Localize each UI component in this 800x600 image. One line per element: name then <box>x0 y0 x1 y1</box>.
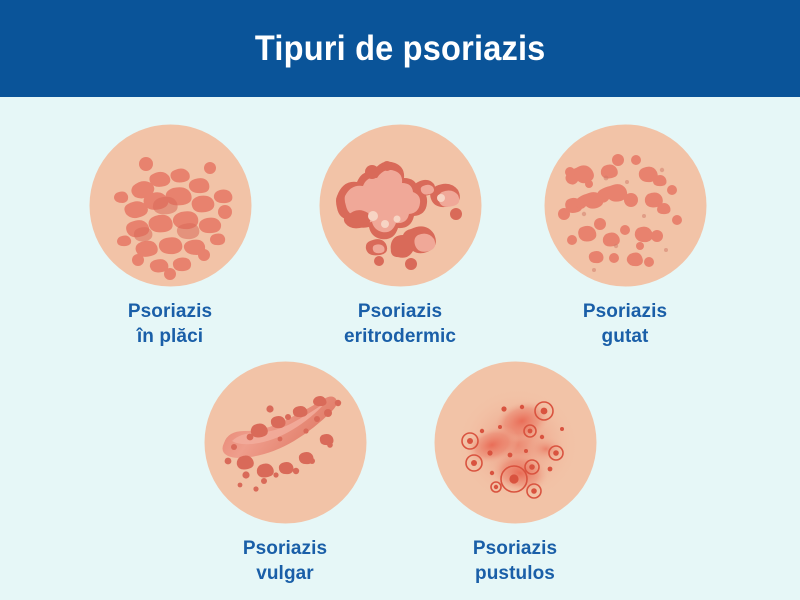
header-banner: Tipuri de psoriazis <box>0 0 800 97</box>
erythrodermic-psoriasis-icon <box>319 124 482 287</box>
type-card-guttate[interactable]: Psoriazis gutat <box>515 124 735 350</box>
psoriasis-vulgaris-icon <box>204 361 367 524</box>
type-card-erythrodermic[interactable]: Psoriazis eritrodermic <box>290 124 510 350</box>
type-label-vulgaris: Psoriazis vulgar <box>175 536 395 587</box>
type-card-plaque[interactable]: Psoriazis în plăci <box>60 124 280 350</box>
guttate-psoriasis-icon <box>544 124 707 287</box>
type-label-plaque: Psoriazis în plăci <box>60 299 280 350</box>
illustration-plaque <box>89 124 252 287</box>
page-title: Tipuri de psoriazis <box>255 29 546 69</box>
illustration-guttate <box>544 124 707 287</box>
illustration-vulgaris <box>204 361 367 524</box>
type-label-pustular: Psoriazis pustulos <box>405 536 625 587</box>
illustration-erythrodermic <box>319 124 482 287</box>
type-label-erythrodermic: Psoriazis eritrodermic <box>290 299 510 350</box>
illustration-pustular <box>434 361 597 524</box>
plaque-psoriasis-icon <box>89 124 252 287</box>
type-card-pustular[interactable]: Psoriazis pustulos <box>405 361 625 587</box>
type-label-guttate: Psoriazis gutat <box>515 299 735 350</box>
pustular-psoriasis-icon <box>434 361 597 524</box>
infographic-root: Tipuri de psoriazis <box>0 0 800 600</box>
psoriasis-types-grid: Psoriazis în plăci <box>0 97 800 600</box>
type-card-vulgaris[interactable]: Psoriazis vulgar <box>175 361 395 587</box>
